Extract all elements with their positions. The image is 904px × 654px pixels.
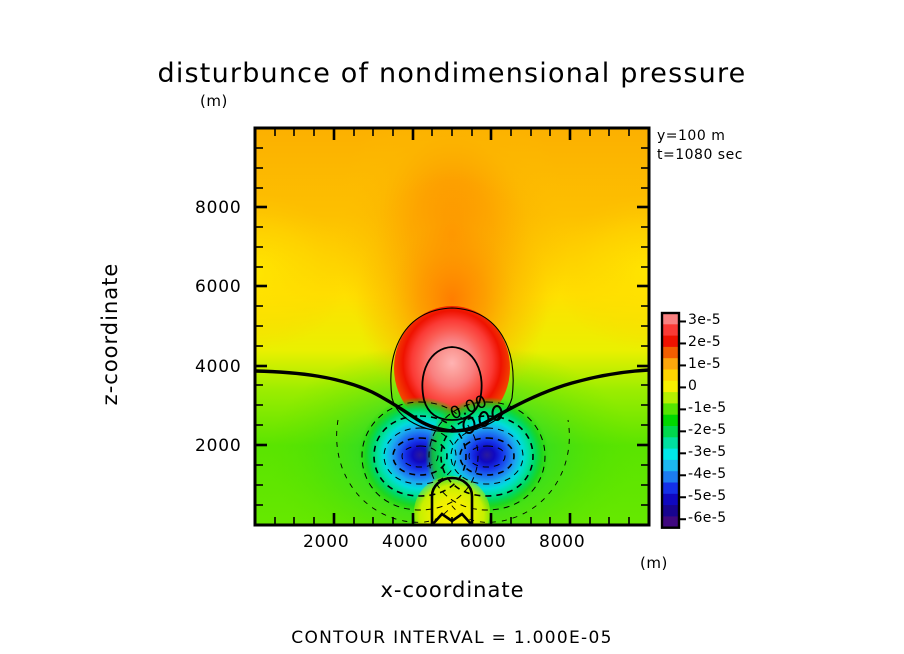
x-axis-title: x-coordinate [255,578,650,602]
colorbar-swatch [662,336,679,348]
colorbar-swatch [662,370,679,382]
colorbar-tick-label: -4e-5 [688,466,727,482]
annotation-time: t=1080 sec [657,147,743,163]
colorbar-swatch [662,347,679,359]
x-tick-label-6000: 6000 [460,532,506,552]
x-tick-label-2000: 2000 [303,532,349,552]
colorbar-swatch [662,437,679,449]
colorbar-tick-label: 2e-5 [688,334,721,350]
colorbar-swatch [662,415,679,427]
colorbar-swatch [662,392,679,404]
x-tick-label-8000: 8000 [539,532,585,552]
y-tick-label-6000: 6000 [195,277,241,297]
colorbar-swatch [662,358,679,370]
contour-plot-canvas [0,0,904,654]
colorbar-swatch [662,403,679,415]
colorbar-swatch [662,381,679,393]
colorbar-swatch [662,313,679,325]
annotation-y-slice: y=100 m [657,128,725,144]
colorbar-tick-label: -3e-5 [688,444,727,460]
x-tick-label-4000: 4000 [382,532,428,552]
contour-interval-note: CONTOUR INTERVAL = 1.000E-05 [0,628,904,648]
figure-root: disturbunce of nondimensional pressure (… [0,0,904,654]
colorbar-tick-label: -5e-5 [688,488,727,504]
colorbar-swatch [662,483,679,495]
colorbar-swatch [662,449,679,461]
y-tick-label-2000: 2000 [195,436,241,456]
colorbar-tick-label: 3e-5 [688,312,721,328]
colorbar-tick-label: 1e-5 [688,356,721,372]
colorbar-tick-label: 0 [688,378,697,394]
y-axis-title: z-coordinate [98,204,122,464]
colorbar [662,313,686,528]
y-tick-label-4000: 4000 [195,357,241,377]
x-axis-units-label: (m) [640,554,668,572]
y-tick-label-8000: 8000 [195,198,241,218]
colorbar-tick-label: -1e-5 [688,400,727,416]
colorbar-swatch [662,505,679,517]
colorbar-tick-label: -2e-5 [688,422,727,438]
colorbar-swatch [662,324,679,336]
colorbar-swatch [662,471,679,483]
colorbar-swatch [662,426,679,438]
colorbar-swatch [662,494,679,506]
colorbar-swatch [662,460,679,472]
colorbar-tick-label: -6e-5 [688,510,727,526]
